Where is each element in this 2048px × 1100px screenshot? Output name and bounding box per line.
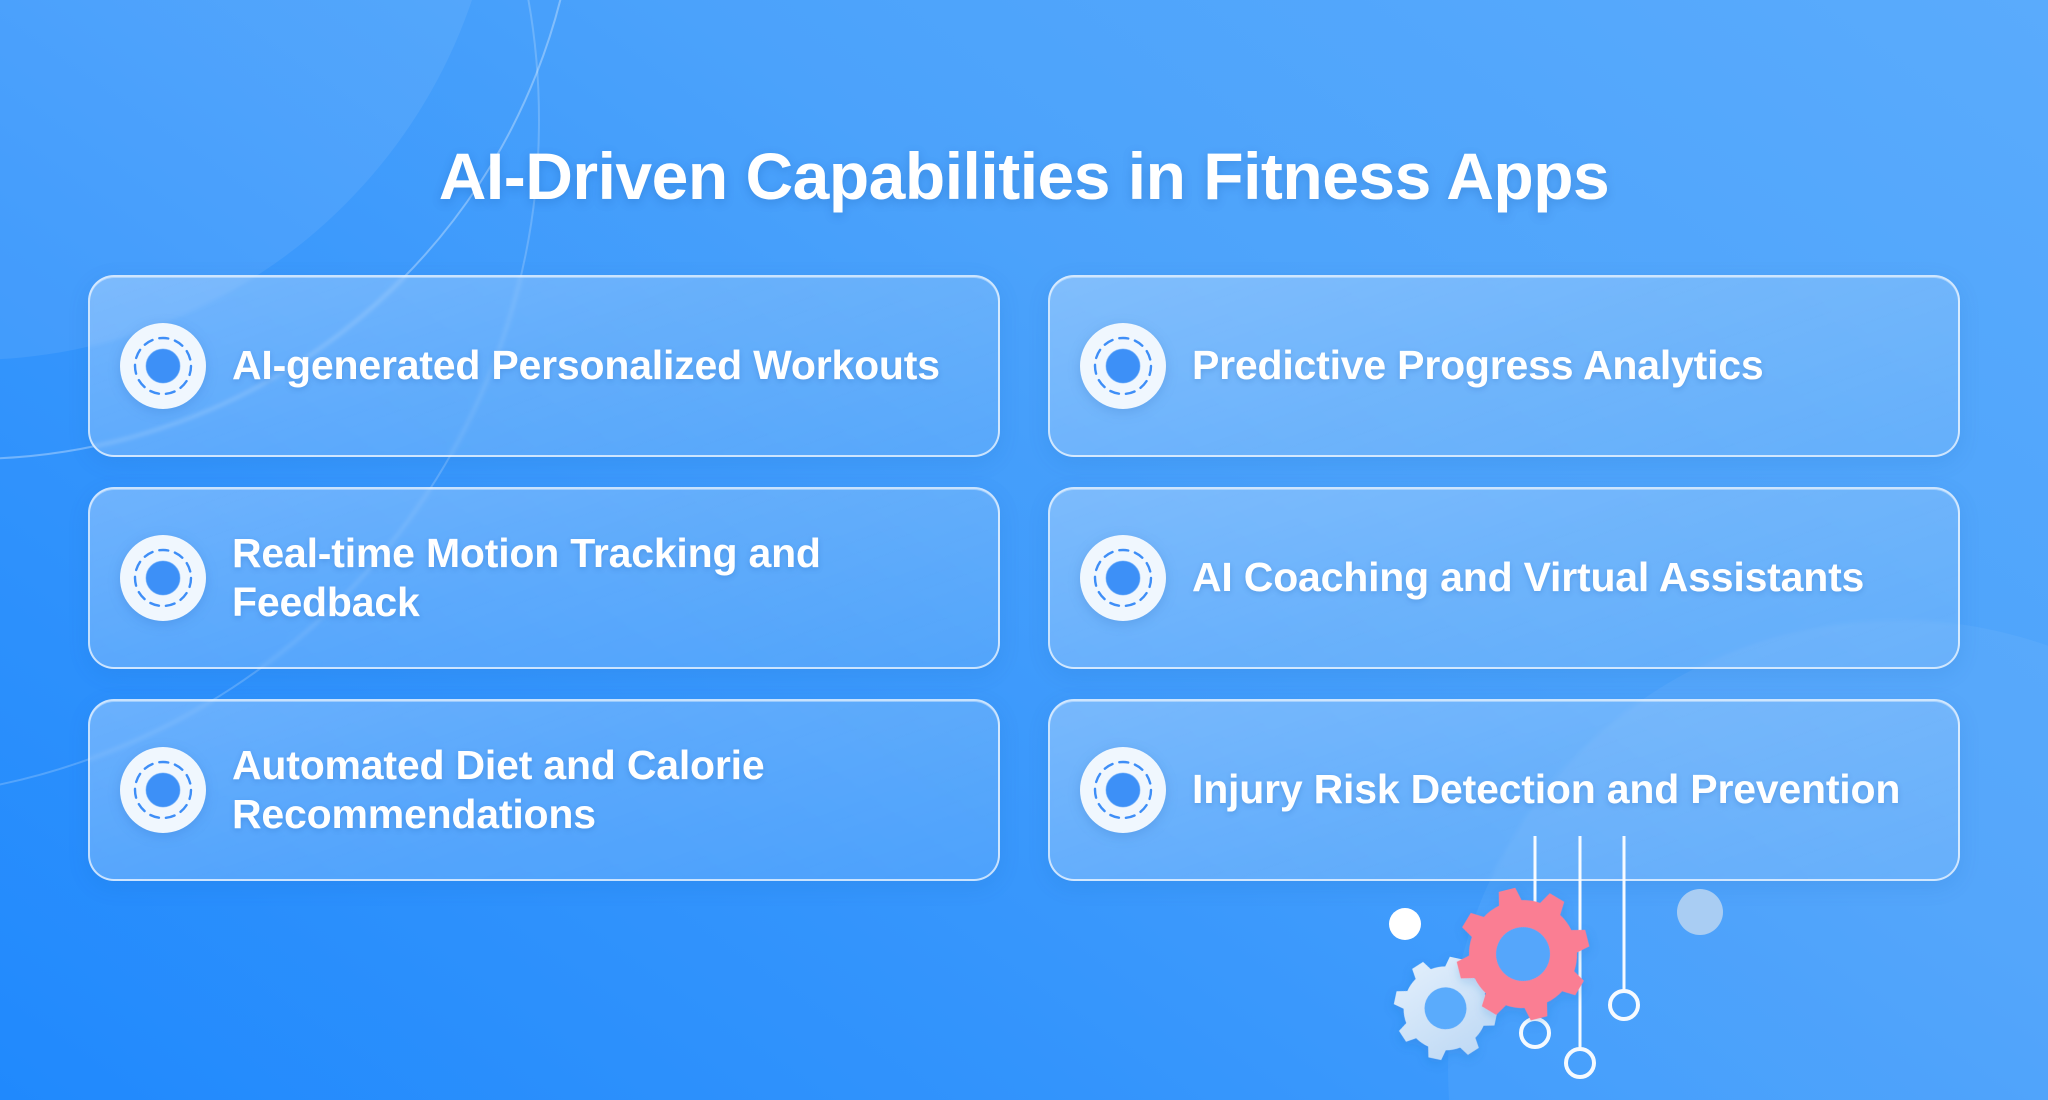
capability-card-label: AI Coaching and Virtual Assistants xyxy=(1192,553,1864,602)
capability-card-automated-diet-and-calorie-recommendations[interactable]: Automated Diet and Calorie Recommendatio… xyxy=(88,699,1000,881)
capability-card-label: Automated Diet and Calorie Recommendatio… xyxy=(232,741,964,839)
bullseye-target-icon xyxy=(1080,747,1166,833)
gear-light-blue-icon xyxy=(1385,947,1507,1069)
bullseye-target-icon xyxy=(120,747,206,833)
capability-card-label: Injury Risk Detection and Prevention xyxy=(1192,765,1900,814)
capability-card-real-time-motion-tracking-and-feedback[interactable]: Real-time Motion Tracking and Feedback xyxy=(88,487,1000,669)
gear-circuit-decoration xyxy=(1362,850,1802,1100)
capability-card-predictive-progress-analytics[interactable]: Predictive Progress Analytics xyxy=(1048,275,1960,457)
dot-white xyxy=(1389,908,1421,940)
bullseye-target-icon xyxy=(1080,323,1166,409)
capability-card-label: Real-time Motion Tracking and Feedback xyxy=(232,529,964,627)
dot-light-blue xyxy=(1677,889,1723,935)
gear-pink-icon xyxy=(1443,874,1603,1034)
capability-card-label: Predictive Progress Analytics xyxy=(1192,341,1764,390)
bullseye-target-icon xyxy=(120,323,206,409)
page-title: AI-Driven Capabilities in Fitness Apps xyxy=(0,140,2048,214)
capability-card-injury-risk-detection-and-prevention[interactable]: Injury Risk Detection and Prevention xyxy=(1048,699,1960,881)
bullseye-target-icon xyxy=(1080,535,1166,621)
capability-card-grid: AI-generated Personalized Workouts Predi… xyxy=(88,275,1960,881)
capability-card-ai-generated-personalized-workouts[interactable]: AI-generated Personalized Workouts xyxy=(88,275,1000,457)
slide-root: AI-Driven Capabilities in Fitness Apps A… xyxy=(0,0,2048,1100)
bullseye-target-icon xyxy=(120,535,206,621)
capability-card-ai-coaching-and-virtual-assistants[interactable]: AI Coaching and Virtual Assistants xyxy=(1048,487,1960,669)
capability-card-label: AI-generated Personalized Workouts xyxy=(232,341,940,390)
